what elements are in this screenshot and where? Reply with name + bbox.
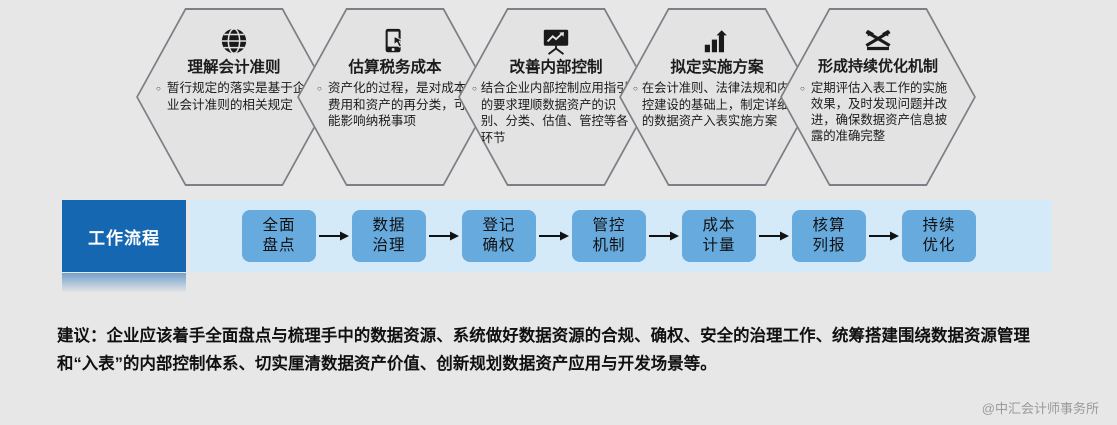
workflow-step-line1: 持续 xyxy=(922,216,955,236)
workflow-step-line1: 成本 xyxy=(702,216,735,236)
hexagon-bullet-text: 暂行规定的落实是基于企业会计准则的相关规定 xyxy=(167,80,312,113)
workflow-step-line2: 盘点 xyxy=(262,236,295,256)
workflow-step-line2: 优化 xyxy=(922,236,955,256)
hexagon-bullet: ○ 定期评估入表工作的实施效果，及时发现问题并改进，确保数据资产信息披露的准确完… xyxy=(798,80,958,144)
workflow-step-line2: 确权 xyxy=(482,236,515,256)
globe-icon xyxy=(219,24,249,58)
workflow-arrow-icon xyxy=(866,230,902,242)
workflow-step-line1: 管控 xyxy=(592,216,625,236)
crossing-arrows-icon xyxy=(863,24,893,58)
hexagon-bullet: ○ 结合企业内部控制应用指引的要求理顺数据资产的识别、分类、估值、管控等各环节 xyxy=(470,80,642,146)
advice-paragraph: 建议：企业应该着手全面盘点与梳理手中的数据资源、系统做好数据资源的合规、确权、安… xyxy=(57,322,1067,378)
hexagon-bullet: ○ 暂行规定的落实是基于企业会计准则的相关规定 xyxy=(154,80,314,113)
workflow-step-2: 数据 治理 xyxy=(352,210,426,262)
hexagon-bullet-text: 结合企业内部控制应用指引的要求理顺数据资产的识别、分类、估值、管控等各环节 xyxy=(481,80,640,146)
workflow-step-line2: 列报 xyxy=(812,236,845,256)
hexagon-title: 形成持续优化机制 xyxy=(818,59,938,76)
bullet-marker: ○ xyxy=(156,80,161,97)
hexagon-bullet: ○ 在会计准则、法律法规和内控建设的基础上，制定详细的数据资产入表实施方案 xyxy=(631,80,803,130)
workflow-label-box: 工作流程 xyxy=(62,200,186,272)
workflow-step-5: 成本 计量 xyxy=(682,210,756,262)
bullet-marker: ○ xyxy=(800,80,805,97)
workflow-band: 工作流程 全面 盘点 数据 治理 登记 确权 管控 机制 xyxy=(62,200,1052,272)
workflow-label-text: 工作流程 xyxy=(88,224,160,249)
workflow-step-line2: 治理 xyxy=(372,236,405,256)
workflow-arrow-icon xyxy=(756,230,792,242)
workflow-track: 全面 盘点 数据 治理 登记 确权 管控 机制 成本 计量 xyxy=(190,200,1052,272)
workflow-step-line1: 登记 xyxy=(482,216,515,236)
hexagon-card-5: 形成持续优化机制 ○ 定期评估入表工作的实施效果，及时发现问题并改进，确保数据资… xyxy=(780,8,976,186)
workflow-step-line1: 核算 xyxy=(812,216,845,236)
workflow-step-3: 登记 确权 xyxy=(462,210,536,262)
bar-growth-arrow-icon xyxy=(702,24,732,58)
workflow-step-1: 全面 盘点 xyxy=(242,210,316,262)
workflow-step-4: 管控 机制 xyxy=(572,210,646,262)
workflow-step-6: 核算 列报 xyxy=(792,210,866,262)
bullet-marker: ○ xyxy=(633,80,638,97)
hexagon-title: 拟定实施方案 xyxy=(670,59,763,76)
workflow-arrow-icon xyxy=(536,230,572,242)
bullet-marker: ○ xyxy=(317,80,322,97)
bullet-marker: ○ xyxy=(472,80,477,97)
workflow-step-line2: 计量 xyxy=(702,236,735,256)
presentation-chart-icon xyxy=(540,24,572,58)
workflow-arrow-icon xyxy=(646,230,682,242)
hexagon-bullet-text: 定期评估入表工作的实施效果，及时发现问题并改进，确保数据资产信息披露的准确完整 xyxy=(811,80,956,144)
workflow-step-line2: 机制 xyxy=(592,236,625,256)
mobile-tap-icon xyxy=(381,24,409,58)
workflow-arrow-icon xyxy=(426,230,462,242)
workflow-step-7: 持续 优化 xyxy=(902,210,976,262)
workflow-arrow-icon xyxy=(316,230,352,242)
workflow-step-line1: 全面 xyxy=(262,216,295,236)
workflow-step-line1: 数据 xyxy=(372,216,405,236)
hexagon-row: 理解会计准则 ○ 暂行规定的落实是基于企业会计准则的相关规定 估算税务成本 ○ xyxy=(0,8,1117,190)
workflow-label-reflection xyxy=(62,273,186,293)
hexagon-bullet-text: 在会计准则、法律法规和内控建设的基础上，制定详细的数据资产入表实施方案 xyxy=(642,80,801,130)
hexagon-title: 改善内部控制 xyxy=(509,59,602,76)
hexagon-bullet-text: 资产化的过程，是对成本费用和资产的再分类，可能影响纳税事项 xyxy=(328,80,473,130)
hexagon-title: 估算税务成本 xyxy=(348,59,441,76)
hexagon-title: 理解会计准则 xyxy=(187,59,280,76)
watermark: @中汇会计师事务所 xyxy=(982,398,1099,417)
hexagon-bullet: ○ 资产化的过程，是对成本费用和资产的再分类，可能影响纳税事项 xyxy=(315,80,475,130)
